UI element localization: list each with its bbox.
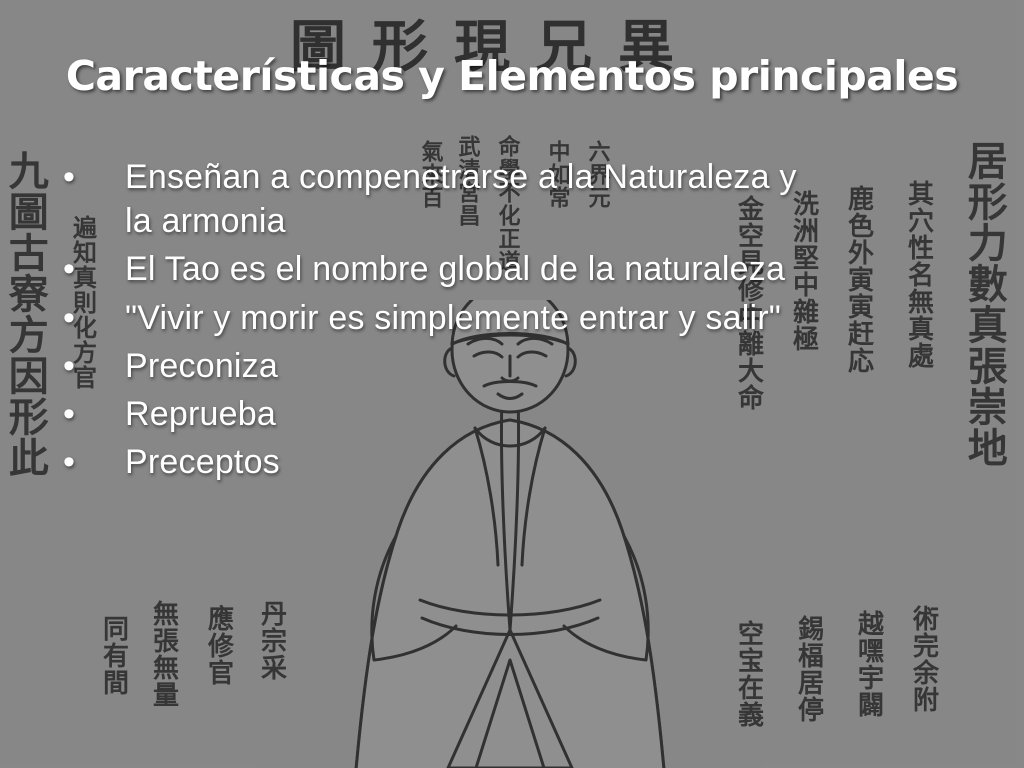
bullet-text: El Tao es el nombre global de la natural… (125, 247, 825, 291)
list-item: • El Tao es el nombre global de la natur… (55, 247, 955, 291)
presentation-slide: 圖形現兄異 九圖古寮方因形此 遍知真則化方官 同有間 無張無量 應修官 丹宗采 … (0, 0, 1024, 768)
bullet-list: • Enseñan a compenetrarse a la Naturalez… (55, 155, 955, 488)
list-item: • Reprueba (55, 392, 955, 436)
slide-title: Características y Elementos principales (0, 52, 1024, 100)
bullet-text: "Vivir y morir es simplemente entrar y s… (125, 296, 885, 340)
list-item: • Preconiza (55, 344, 955, 388)
list-item: • "Vivir y morir es simplemente entrar y… (55, 296, 955, 340)
bullet-point-icon: • (55, 296, 125, 340)
list-item: • Enseñan a compenetrarse a la Naturalez… (55, 155, 955, 243)
list-item: • Preceptos (55, 440, 955, 484)
bullet-text: Enseñan a compenetrarse a la Naturaleza … (125, 155, 825, 243)
bullet-point-icon: • (55, 344, 125, 388)
slide-content: Características y Elementos principales … (0, 0, 1024, 768)
bullet-point-icon: • (55, 247, 125, 291)
bullet-point-icon: • (55, 392, 125, 436)
bullet-point-icon: • (55, 440, 125, 484)
bullet-text: Preceptos (125, 440, 885, 484)
bullet-text: Preconiza (125, 344, 885, 388)
bullet-text: Reprueba (125, 392, 885, 436)
bullet-point-icon: • (55, 155, 125, 199)
